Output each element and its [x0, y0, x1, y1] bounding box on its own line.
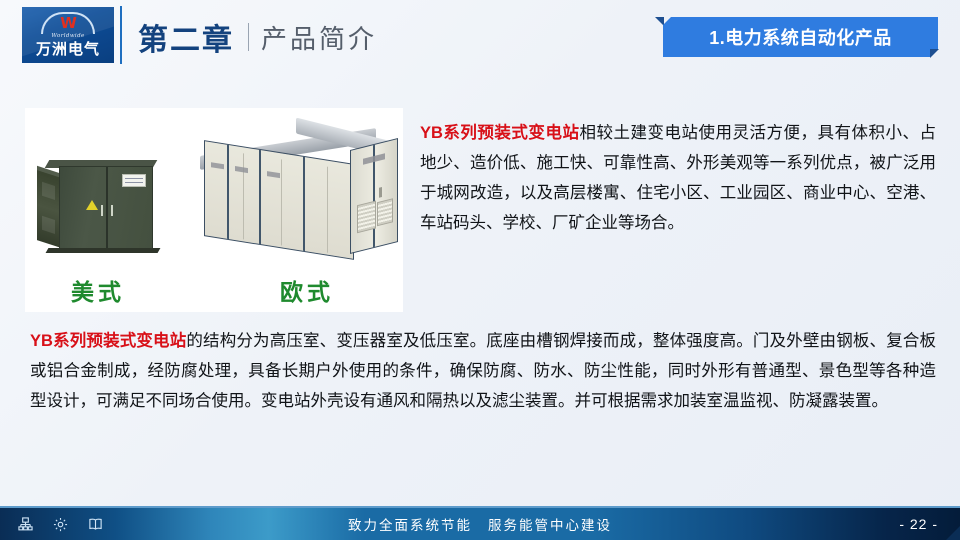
european-substation-illustration — [200, 130, 400, 260]
logo-letter: W — [43, 15, 93, 31]
header-divider — [120, 6, 122, 64]
caption-european: 欧式 — [280, 273, 334, 307]
slide-footer: 致力全面系统节能 服务能管中心建设 - 22 - — [0, 506, 960, 540]
right-paragraph-highlight: YB系列预装式变电站 — [420, 124, 579, 142]
bottom-paragraph-highlight: YB系列预装式变电站 — [30, 332, 186, 350]
title-separator — [248, 23, 249, 51]
slide-header: W Worldwide 万洲电气 第二章 产品简介 1.电力系统自动化产品 — [0, 0, 960, 78]
page-number: - 22 - — [899, 508, 938, 540]
footer-slogan-left: 致力全面系统节能 — [348, 514, 472, 534]
chapter-label: 第二章 — [138, 15, 234, 59]
product-photo: 美式 欧式 — [25, 108, 403, 312]
logo-company-name: 万洲电气 — [22, 38, 114, 59]
american-substation-illustration — [37, 160, 157, 252]
logo-arc-icon: W — [22, 12, 114, 34]
page-title: 第二章 产品简介 — [138, 14, 377, 60]
right-paragraph: YB系列预装式变电站相较土建变电站使用灵活方便，具有体积小、占地少、造价低、施工… — [420, 118, 936, 238]
banner-fold-right — [930, 49, 939, 58]
footer-slogan: 致力全面系统节能 服务能管中心建设 — [0, 508, 960, 540]
section-banner[interactable]: 1.电力系统自动化产品 — [663, 17, 938, 57]
chapter-subtitle: 产品简介 — [261, 19, 377, 56]
company-logo: W Worldwide 万洲电气 — [22, 7, 114, 63]
caption-american: 美式 — [71, 273, 125, 307]
slide: W Worldwide 万洲电气 第二章 产品简介 1.电力系统自动化产品 — [0, 0, 960, 540]
footer-slogan-right: 服务能管中心建设 — [488, 514, 612, 534]
banner-fold-left — [655, 17, 664, 26]
bottom-paragraph: YB系列预装式变电站的结构分为高压室、变压器室及低压室。底座由槽钢焊接而成，整体… — [30, 326, 936, 416]
